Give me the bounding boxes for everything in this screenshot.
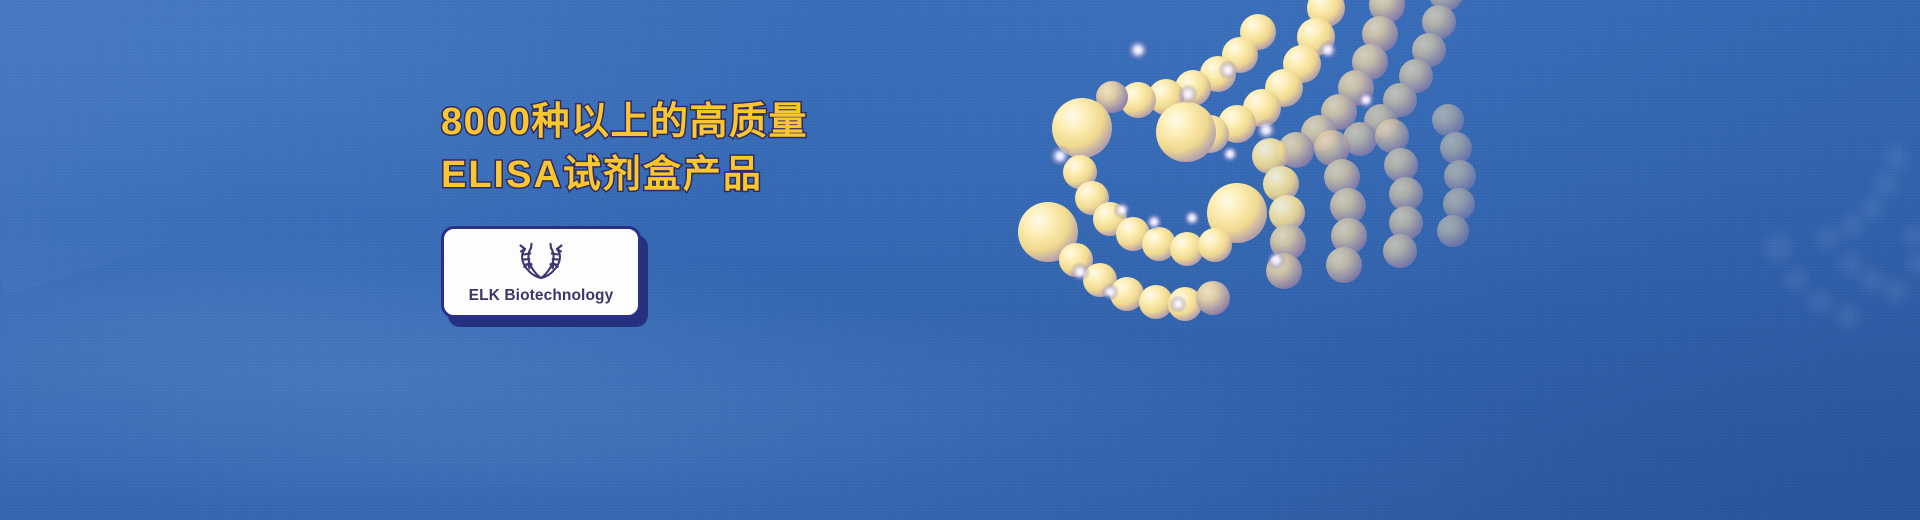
hero-banner: 8000种以上的高质量 ELISA试剂盒产品 <box>0 0 1920 520</box>
brand-name-label: ELK Biotechnology <box>469 288 614 304</box>
logo-card-wrapper: ELK Biotechnology <box>441 226 641 318</box>
headline-line-1: 8000种以上的高质量 <box>441 96 1001 149</box>
brand-logo-card[interactable]: ELK Biotechnology <box>441 226 641 318</box>
banner-content: 8000种以上的高质量 ELISA试剂盒产品 <box>441 96 1001 318</box>
dna-antler-icon <box>510 242 572 286</box>
headline-line-2: ELISA试剂盒产品 <box>441 149 1001 202</box>
